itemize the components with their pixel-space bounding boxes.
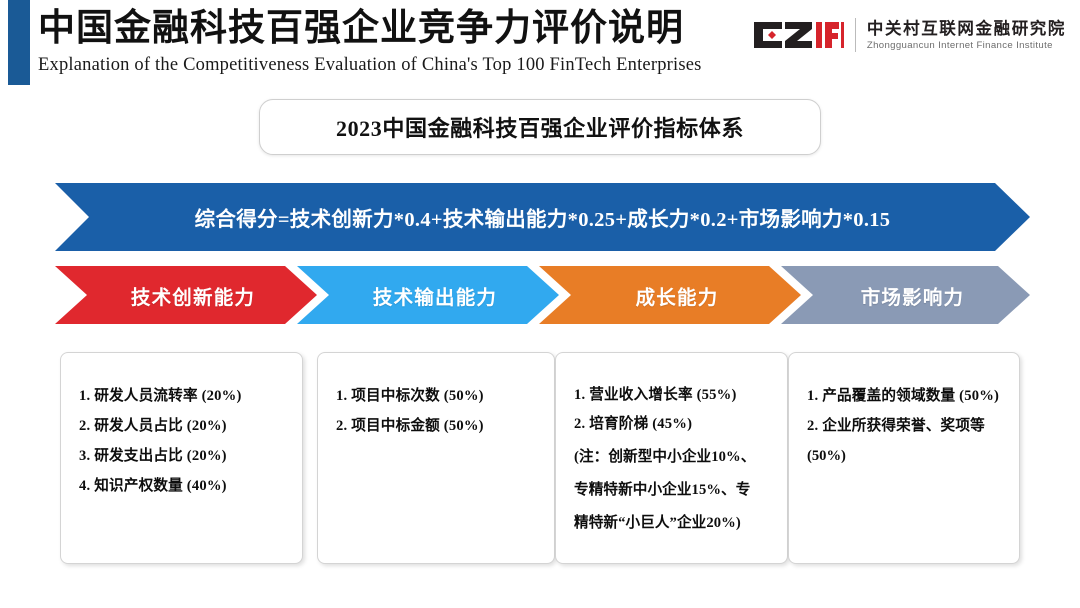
slide-header: 中国金融科技百强企业竞争力评价说明 Explanation of the Com… <box>0 0 1080 92</box>
list-item: 2. 企业所获得荣誉、奖项等 <box>807 411 1005 441</box>
chevron-label: 技术创新能力 <box>117 281 255 310</box>
indicator-list: 1. 研发人员流转率 (20%) 2. 研发人员占比 (20%) 3. 研发支出… <box>79 381 288 501</box>
chevron-market-influence: 市场影响力 <box>781 266 1030 324</box>
indicator-card-market-influence: 1. 产品覆盖的领域数量 (50%) 2. 企业所获得荣誉、奖项等 (50%) <box>788 352 1020 564</box>
institute-logo: 中关村互联网金融研究院 Zhongguancun Internet Financ… <box>752 12 1066 58</box>
indicator-list: 1. 产品覆盖的领域数量 (50%) 2. 企业所获得荣誉、奖项等 <box>807 381 1005 441</box>
list-item-continuation: (50%) <box>807 441 1005 471</box>
index-system-title-box: 2023中国金融科技百强企业评价指标体系 <box>259 99 821 155</box>
chevron-growth-capability: 成长能力 <box>539 266 801 324</box>
chevron-technology-innovation: 技术创新能力 <box>55 266 317 324</box>
list-item: 1. 产品覆盖的领域数量 (50%) <box>807 381 1005 411</box>
list-item: 2. 研发人员占比 (20%) <box>79 411 288 441</box>
chevron-label: 市场影响力 <box>847 281 965 310</box>
list-item: 2. 项目中标金额 (50%) <box>336 411 540 441</box>
logo-name-chinese: 中关村互联网金融研究院 <box>867 19 1066 39</box>
czifi-logo-icon <box>752 20 844 50</box>
note-line-1: (注：创新型中小企业10%、 <box>574 443 773 472</box>
index-system-title: 2023中国金融科技百强企业评价指标体系 <box>336 111 744 143</box>
chevron-label: 成长能力 <box>622 281 719 310</box>
page-title-english: Explanation of the Competitiveness Evalu… <box>38 55 702 76</box>
header-accent-bar <box>8 0 30 85</box>
list-item: 2. 培育阶梯 (45%) <box>574 410 773 439</box>
note-line-3: 精特新“小巨人”企业20%) <box>574 509 773 538</box>
dimension-chevron-row: 技术创新能力 技术输出能力 成长能力 市场影响力 <box>55 266 1030 324</box>
score-formula-banner: 综合得分=技术创新力*0.4+技术输出能力*0.25+成长力*0.2+市场影响力… <box>55 183 1030 251</box>
indicator-card-technology-output: 1. 项目中标次数 (50%) 2. 项目中标金额 (50%) <box>317 352 555 564</box>
indicator-card-growth-capability: 1. 营业收入增长率 (55%) 2. 培育阶梯 (45%) (注：创新型中小企… <box>555 352 788 564</box>
score-formula-text: 综合得分=技术创新力*0.4+技术输出能力*0.25+成长力*0.2+市场影响力… <box>195 202 891 232</box>
indicator-card-technology-innovation: 1. 研发人员流转率 (20%) 2. 研发人员占比 (20%) 3. 研发支出… <box>60 352 303 564</box>
indicator-list: 1. 营业收入增长率 (55%) 2. 培育阶梯 (45%) <box>574 381 773 439</box>
list-item: 1. 项目中标次数 (50%) <box>336 381 540 411</box>
list-item: 4. 知识产权数量 (40%) <box>79 471 288 501</box>
logo-divider <box>855 18 856 52</box>
logo-name-english: Zhongguancun Internet Finance Institute <box>867 39 1066 52</box>
list-item: 1. 营业收入增长率 (55%) <box>574 381 773 410</box>
note-line-2: 专精特新中小企业15%、专 <box>574 476 773 505</box>
indicator-list: 1. 项目中标次数 (50%) 2. 项目中标金额 (50%) <box>336 381 540 441</box>
chevron-label: 技术输出能力 <box>359 281 497 310</box>
logo-text-block: 中关村互联网金融研究院 Zhongguancun Internet Financ… <box>867 19 1066 52</box>
chevron-technology-output: 技术输出能力 <box>297 266 559 324</box>
page-title-chinese: 中国金融科技百强企业竞争力评价说明 <box>38 6 684 52</box>
list-item: 3. 研发支出占比 (20%) <box>79 441 288 471</box>
indicator-cards-row: 1. 研发人员流转率 (20%) 2. 研发人员占比 (20%) 3. 研发支出… <box>60 352 1020 564</box>
slide-root: 中国金融科技百强企业竞争力评价说明 Explanation of the Com… <box>0 0 1080 608</box>
list-item: 1. 研发人员流转率 (20%) <box>79 381 288 411</box>
